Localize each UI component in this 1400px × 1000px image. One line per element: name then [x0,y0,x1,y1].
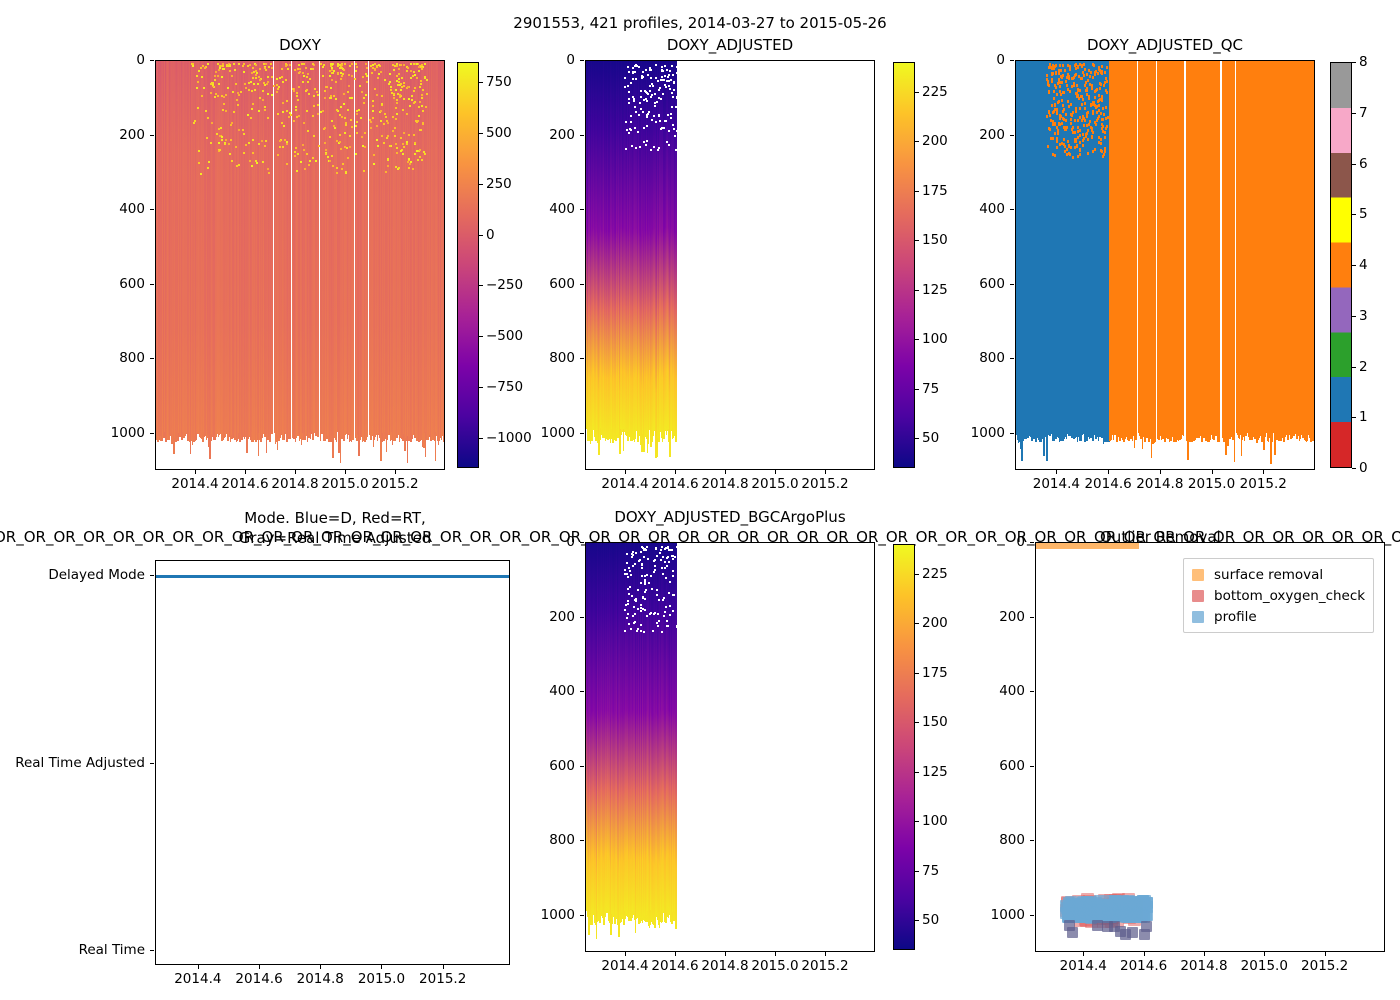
ytick-label: 1000 [905,907,1025,923]
qc-column [1219,61,1221,435]
qc-flag4-speckle [1070,146,1072,149]
qc-flag4-speckle [1049,114,1051,117]
ytick-mark [1010,209,1014,210]
ytick-mark [580,60,584,61]
colorbar-doxy [457,62,479,468]
outlier-speckle [211,122,213,124]
outlier-speckle [235,146,237,148]
missing-sample-speckle [672,575,674,577]
outlier-speckle [424,77,426,79]
outlier-speckle [225,110,227,112]
qc-flag4-speckle [1056,140,1058,143]
ytick-label: 1000 [455,425,575,441]
ytick-label: 600 [455,276,575,292]
outlier-speckle [344,63,346,65]
missing-sample-speckle [665,606,667,608]
missing-sample-speckle [656,555,658,557]
outlier-speckle [339,114,341,116]
outlier-speckle [343,103,345,105]
qc-flag4-speckle [1092,131,1094,134]
outlier-speckle [403,132,405,134]
outlier-speckle [226,64,228,66]
outlier-speckle [268,66,270,68]
missing-sample-speckle [628,132,630,134]
outlier-speckle [210,92,212,94]
qc-flag4-speckle [1060,69,1062,72]
colorbar-tick-label: 6 [1359,156,1368,172]
ytick-label: 600 [905,758,1025,774]
outlier-speckle [230,139,232,141]
outlier-speckle [312,115,314,117]
colorbar-tick-mark [479,235,483,236]
qc-flag4-speckle [1068,105,1070,108]
colorbar-tick-mark [1352,164,1356,165]
outlier-speckle [229,153,231,155]
ytick-mark [1030,915,1034,916]
missing-sample-speckle [635,598,637,600]
missing-sample-speckle [641,567,643,569]
outlier-speckle [400,89,402,91]
outlier-speckle [198,70,200,72]
outlier-speckle [214,75,216,77]
outlier-speckle [394,127,396,129]
outlier-speckle [396,102,398,104]
outlier-speckle [400,150,402,152]
outlier-speckle [372,67,374,69]
qc-flag4-speckle [1079,116,1081,119]
xtick-mark [259,965,260,969]
qc-flag4-speckle [1070,113,1072,116]
missing-sample-speckle [629,128,631,130]
outlier-speckle [341,75,343,77]
outlier-speckle [302,144,304,146]
qc-flag4-speckle [1098,104,1100,107]
outlier-speckle [264,106,266,108]
missing-sample-speckle [676,130,678,132]
outlier-speckle [415,120,417,122]
outlier-speckle [228,143,230,145]
outlier-speckle [203,87,205,89]
missing-sample-speckle [627,603,629,605]
outlier-speckle [294,155,296,157]
outlier-speckle [215,93,217,95]
missing-sample-speckle [630,82,632,84]
qc-flag4-speckle [1049,128,1051,131]
outlier-speckle [385,171,387,173]
outlier-speckle [356,113,358,115]
legend-swatch [1192,590,1204,602]
outlier-speckle [222,68,224,70]
colorbar-tick-mark [479,184,483,185]
missing-sample-speckle [669,70,671,72]
outlier-speckle [407,161,409,163]
missing-sample-speckle [672,124,674,126]
outlier-speckle [316,91,318,93]
missing-sample-speckle [660,559,662,561]
outlier-speckle [200,67,202,69]
outlier-speckle [386,137,388,139]
outlier-speckle [363,97,365,99]
qc-flag4-speckle [1091,85,1093,88]
missing-sample-speckle [667,556,669,558]
xtick-label: 2015.0 [751,476,798,492]
outlier-speckle [339,141,341,143]
plot-doxy-adjusted[interactable] [585,60,875,470]
plot-doxy[interactable] [155,60,445,470]
outlier-speckle [383,123,385,125]
qc-flag4-speckle [1053,90,1055,93]
qc-flag4-speckle [1061,81,1063,84]
colorbar-tick-label: 225 [922,566,948,582]
plot-doxy-adjusted-bgcargoplus[interactable] [585,542,875,952]
xtick-label: 2014.6 [651,958,698,974]
missing-sample-speckle [627,576,629,578]
outlier-speckle [271,76,273,78]
qc-flag4-speckle [1068,77,1070,80]
qc-flag4-speckle [1101,150,1103,153]
qc-flag4-speckle [1064,145,1066,148]
outlier-speckle [266,83,268,85]
qc-flag4-speckle [1059,64,1061,67]
outlier-speckle [286,143,288,145]
qc-flag4-speckle [1086,132,1088,135]
missing-sample-speckle [625,121,627,123]
outlier-speckle [372,117,374,119]
qc-flag4-speckle [1079,107,1081,110]
missing-sample-speckle [640,610,642,612]
missing-sample-speckle [657,80,659,82]
outlier-speckle [356,121,358,123]
qc-flag4-speckle [1101,70,1103,73]
outlier-speckle [426,93,428,95]
missing-sample-speckle [668,85,670,87]
outlier-speckle [418,115,420,117]
missing-sample-speckle [666,620,668,622]
outlier-speckle [393,69,395,71]
outlier-speckle [302,81,304,83]
missing-sample-speckle [650,575,652,577]
outlier-speckle [372,110,374,112]
missing-sample-speckle [650,96,652,98]
outlier-speckle [374,88,376,90]
colorbar-tick-mark [1352,367,1356,368]
outlier-speckle [318,145,320,147]
outlier-speckle [198,150,200,152]
outlier-speckle [277,154,279,156]
outlier-speckle [295,109,297,111]
missing-sample-speckle [665,86,667,88]
outlier-speckle [296,170,298,172]
outlier-speckle [411,99,413,101]
xtick-label: 2014.4 [1060,958,1107,974]
outlier-speckle [252,152,254,154]
colorbar-tick-label: 150 [922,232,948,248]
xtick-label: 2014.4 [1033,476,1080,492]
outlier-speckle [396,65,398,67]
outlier-speckle [253,83,255,85]
missing-sample-speckle [640,604,642,606]
outlier-speckle [355,125,357,127]
outlier-speckle [393,97,395,99]
outlier-speckle [331,79,333,81]
outlier-speckle [271,94,273,96]
outlier-speckle [303,63,305,65]
missing-sample-speckle [647,74,649,76]
ytick-label: 800 [25,350,145,366]
outlier-speckle [384,113,386,115]
missing-sample-speckle [654,565,656,567]
missing-sample-speckle [634,613,636,615]
qc-flag4-speckle [1065,113,1067,116]
xtick-label: 2015.2 [1301,958,1348,974]
outlier-speckle [371,72,373,74]
missing-sample-speckle [649,90,651,92]
colorbar-tick-mark [479,82,483,83]
ytick-label: 600 [25,276,145,292]
xtick-mark [320,965,321,969]
missing-sample-speckle [660,549,662,551]
legend-label: bottom_oxygen_check [1214,588,1365,604]
missing-sample-speckle [646,615,648,617]
xtick-mark [198,965,199,969]
ytick-label: 400 [25,201,145,217]
colorbar-tick-mark [915,574,919,575]
qc-flag4-speckle [1098,99,1100,102]
missing-sample-speckle [626,573,628,575]
outlier-speckle [264,109,266,111]
outlier-marker [1102,921,1113,932]
outlier-speckle [307,73,309,75]
outlier-speckle [238,164,240,166]
ytick-mark [1030,691,1034,692]
qc-flag4-speckle [1053,97,1055,100]
outlier-speckle [347,157,349,159]
outlier-speckle [276,84,278,86]
missing-sample-speckle [674,135,676,137]
missing-sample-speckle [640,96,642,98]
ytick-mark [580,617,584,618]
figure-suptitle: 2901553, 421 profiles, 2014-03-27 to 201… [0,14,1400,32]
outlier-speckle [418,66,420,68]
outlier-speckle [345,122,347,124]
outlier-speckle [259,68,261,70]
qc-flag4-speckle [1053,67,1055,70]
outlier-speckle [301,63,303,65]
surface-removal-band [1036,543,1139,549]
xtick-label: 2014.4 [171,476,218,492]
profile-column [290,61,292,438]
colorbar-tick-label: 75 [922,381,939,397]
missing-sample-speckle [637,589,639,591]
plot-doxy-adjusted-qc[interactable] [1015,60,1315,470]
outlier-speckle [312,63,314,65]
missing-sample-speckle [668,130,670,132]
ytick-mark [150,284,154,285]
legend-outlier-removal[interactable]: surface removalbottom_oxygen_checkprofil… [1183,558,1374,633]
missing-sample-speckle [651,119,653,121]
outlier-speckle [414,142,416,144]
outlier-marker [1067,927,1078,938]
legend-item[interactable]: surface removal [1192,564,1365,585]
qc-column [1154,61,1156,442]
ytick-mark [1010,60,1014,61]
outlier-speckle [322,110,324,112]
missing-sample-speckle [667,76,669,78]
qc-flag4-speckle [1087,138,1089,141]
outlier-speckle [409,163,411,165]
legend-item[interactable]: profile [1192,606,1365,627]
colorbar-tick-mark [915,339,919,340]
qc-flag4-speckle [1092,110,1094,113]
outlier-speckle [403,82,405,84]
missing-sample-speckle [662,93,664,95]
ytick-label: 1000 [455,907,575,923]
xtick-mark [1212,470,1213,474]
outlier-speckle [278,86,280,88]
colorbar-tick-mark [479,336,483,337]
qc-flag4-speckle [1048,91,1050,94]
missing-sample-speckle [662,599,664,601]
ytick-label: 600 [885,276,1005,292]
outlier-speckle [393,93,395,95]
qc-flag4-speckle [1057,101,1059,104]
outlier-speckle [219,67,221,69]
qc-flag4-speckle [1078,97,1080,100]
missing-sample-speckle [642,111,644,113]
outlier-speckle [292,88,294,90]
qc-flag4-speckle [1090,71,1092,74]
outlier-speckle [227,87,229,89]
missing-sample-speckle [632,615,634,617]
missing-sample-speckle [643,127,645,129]
missing-sample-speckle [649,613,651,615]
missing-sample-speckle [630,574,632,576]
outlier-speckle [267,76,269,78]
outlier-speckle [307,130,309,132]
qc-flag4-speckle [1063,138,1065,141]
outlier-marker [1141,921,1152,932]
outlier-speckle [284,139,286,141]
qc-flag4-speckle [1064,69,1066,72]
qc-flag4-speckle [1102,118,1104,121]
ytick-label: 200 [25,127,145,143]
colorbar-tick-mark [1352,468,1356,469]
colorbar-tick-mark [915,240,919,241]
outlier-speckle [333,125,335,127]
outlier-speckle [376,94,378,96]
outlier-speckle [391,92,393,94]
missing-sample-speckle [656,594,658,596]
outlier-speckle [335,98,337,100]
outlier-speckle [416,150,418,152]
outlier-speckle [303,149,305,151]
legend-swatch [1192,569,1204,581]
outlier-speckle [289,112,291,114]
xtick-label: 2015.2 [371,476,418,492]
legend-item[interactable]: bottom_oxygen_check [1192,585,1365,606]
qc-flag4-speckle [1067,73,1069,76]
xtick-mark [675,470,676,474]
heatmap-bgcargoplus [586,543,874,951]
missing-sample-speckle [624,569,626,571]
missing-sample-speckle [672,610,674,612]
qc-flag4-speckle [1054,154,1056,157]
ytick-label: 0 [455,52,575,68]
outlier-speckle [222,63,224,65]
ytick-mark [150,358,154,359]
outlier-speckle [377,145,379,147]
outlier-speckle [366,75,368,77]
outlier-speckle [402,153,404,155]
outlier-speckle [403,98,405,100]
outlier-speckle [376,139,378,141]
outlier-speckle [265,69,267,71]
outlier-speckle [297,153,299,155]
xtick-mark [443,965,444,969]
outlier-speckle [392,64,394,66]
qc-flag4-speckle [1082,144,1084,147]
outlier-speckle [380,120,382,122]
missing-sample-speckle [646,140,648,142]
outlier-speckle [387,165,389,167]
outlier-speckle [255,77,257,79]
outlier-speckle [258,110,260,112]
missing-sample-speckle [671,106,673,108]
qc-flag4-speckle [1087,111,1089,114]
outlier-speckle [270,63,272,65]
outlier-speckle [200,173,202,175]
ytick-mark [1010,358,1014,359]
missing-sample-speckle [652,85,654,87]
outlier-speckle [265,140,267,142]
qc-flag4-speckle [1081,95,1083,98]
outlier-speckle [300,161,302,163]
outlier-speckle [406,70,408,72]
qc-flag4-speckle [1061,99,1063,102]
outlier-speckle [351,63,353,65]
outlier-speckle [406,113,408,115]
colorbar-tick-label: 3 [1359,308,1368,324]
qc-flag4-speckle [1066,148,1068,151]
missing-sample-speckle [661,631,663,633]
qc-flag4-speckle [1076,145,1078,148]
outlier-speckle [286,163,288,165]
outlier-speckle [293,90,295,92]
missing-sample-speckle [627,613,629,615]
outlier-speckle [223,96,225,98]
missing-sample-speckle [637,608,639,610]
outlier-speckle [424,153,426,155]
outlier-speckle [223,103,225,105]
ytick-mark [1030,542,1034,543]
xtick-label: 2014.4 [601,476,648,492]
qc-flag4-speckle [1052,111,1054,114]
missing-sample-speckle [645,144,647,146]
outlier-speckle [259,97,261,99]
missing-sample-speckle [675,106,677,108]
outlier-speckle [333,95,335,97]
qc-flag4-speckle [1054,132,1056,135]
xtick-mark [1144,952,1145,956]
outlier-speckle [242,129,244,131]
qc-flag4-speckle [1067,140,1069,143]
outlier-speckle [423,151,425,153]
outlier-speckle [289,64,291,66]
outlier-speckle [250,81,252,83]
colorbar-tick-mark [1352,214,1356,215]
colorbar-tick-label: −500 [486,328,523,344]
outlier-speckle [330,65,332,67]
